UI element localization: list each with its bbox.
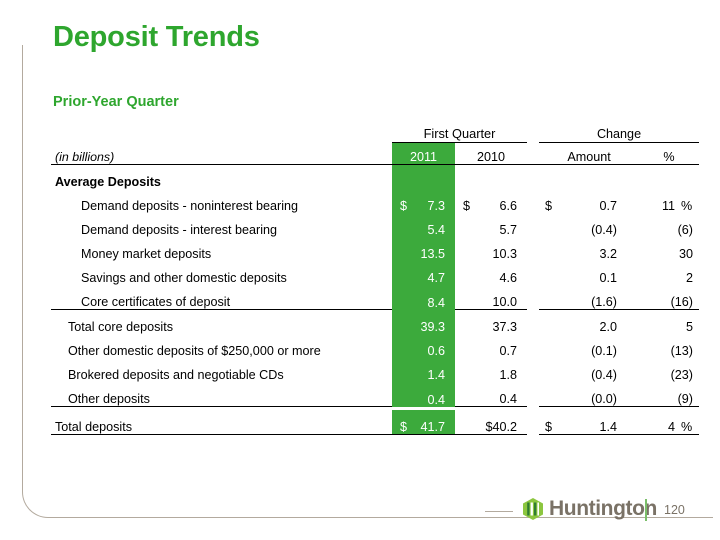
empty-cell [639, 165, 699, 190]
row-label: Core certificates of deposit [51, 285, 392, 310]
percent-symbol: % [675, 420, 693, 434]
value: 0.7 [600, 199, 618, 213]
row-change-amount: 0.1 [539, 261, 639, 285]
group-header-spacer [51, 122, 392, 143]
total-row-label: Total deposits [51, 410, 392, 435]
row-change-percent: 2 [639, 261, 699, 285]
row-value-2010: 5.7 [455, 213, 527, 237]
table-total-row: Total deposits $41.7 $40.2 $1.4 %4 [51, 410, 699, 435]
gap-cell [527, 285, 539, 310]
table-row: Total core deposits 39.3 37.3 2.0 5 [51, 310, 699, 335]
row-value-2011: 0.6 [392, 334, 455, 358]
row-change-amount: (0.1) [539, 334, 639, 358]
huntington-hexagon-icon [521, 497, 545, 521]
table-row: Demand deposits - noninterest bearing $7… [51, 189, 699, 213]
table-row: Other deposits 0.4 0.4 (0.0) (9) [51, 382, 699, 407]
value: 0.7 [500, 344, 518, 358]
table-row: Money market deposits 13.5 10.3 3.2 30 [51, 237, 699, 261]
value: 1.4 [600, 420, 618, 434]
row-change-percent: (13) [639, 334, 699, 358]
row-value-2010: 0.4 [455, 382, 527, 407]
units-label: (in billions) [51, 143, 392, 165]
value: 13.5 [420, 247, 445, 261]
table-group-header-row: First Quarter Change [51, 122, 699, 143]
row-value-2010: 37.3 [455, 310, 527, 335]
gap-cell [527, 189, 539, 213]
row-label: Savings and other domestic deposits [51, 261, 392, 285]
value: 0.4 [500, 392, 518, 406]
table-row: Savings and other domestic deposits 4.7 … [51, 261, 699, 285]
value: (0.0) [591, 392, 617, 406]
percent-symbol: % [675, 199, 693, 213]
brand-name: Huntington [549, 497, 657, 521]
page-title: Deposit Trends [53, 21, 260, 54]
table-sub-header-row: (in billions) 2011 2010 Amount % [51, 143, 699, 165]
column-header-2010: 2010 [455, 143, 527, 165]
value: 0.4 [427, 393, 445, 407]
currency-symbol: $ [539, 420, 552, 434]
row-value-2011: 0.4 [392, 382, 455, 407]
table-row: Brokered deposits and negotiable CDs 1.4… [51, 358, 699, 382]
row-label: Brokered deposits and negotiable CDs [51, 358, 392, 382]
row-label: Demand deposits - interest bearing [51, 213, 392, 237]
row-label: Money market deposits [51, 237, 392, 261]
currency-symbol: $ [539, 199, 552, 213]
row-value-2010: 10.0 [455, 285, 527, 310]
footer-divider [645, 499, 647, 521]
table-row: Demand deposits - interest bearing 5.4 5… [51, 213, 699, 237]
total-change-amount: $1.4 [539, 410, 639, 435]
value: 4.6 [500, 271, 518, 285]
value: 10.3 [493, 247, 518, 261]
row-change-percent: (16) [639, 285, 699, 310]
deposit-trends-table: First Quarter Change (in billions) 2011 … [51, 122, 699, 435]
row-label: Total core deposits [51, 310, 392, 335]
value: (0.4) [591, 368, 617, 382]
empty-cell [455, 165, 527, 190]
section-title-average-deposits: Average Deposits [51, 165, 392, 190]
row-change-amount: (0.0) [539, 382, 639, 407]
row-value-2010: 4.6 [455, 261, 527, 285]
total-value-2010: $40.2 [455, 410, 527, 435]
row-value-2010: $6.6 [455, 189, 527, 213]
gap-cell [527, 410, 539, 435]
table-section-row: Average Deposits [51, 165, 699, 190]
value: 39.3 [420, 320, 445, 334]
gap-cell [527, 358, 539, 382]
value: 37.3 [493, 320, 518, 334]
value: 5.7 [500, 223, 518, 237]
value: (6) [678, 223, 693, 237]
gap-cell [527, 310, 539, 335]
footer-rule [485, 511, 513, 512]
value: 5 [686, 320, 693, 334]
value: 8.4 [427, 296, 445, 310]
column-header-amount: Amount [539, 143, 639, 165]
page-number: 120 [664, 503, 685, 517]
row-change-amount: 3.2 [539, 237, 639, 261]
row-change-amount: 2.0 [539, 310, 639, 335]
value: 7.3 [427, 199, 445, 213]
currency-symbol: $ [455, 199, 470, 213]
table-body: Average Deposits Demand deposits - nonin… [51, 165, 699, 435]
value: (23) [671, 368, 693, 382]
currency-symbol: $ [392, 199, 407, 213]
gap-cell [527, 261, 539, 285]
currency-symbol: $ [392, 420, 407, 434]
total-change-percent: %4 [639, 410, 699, 435]
value: 0.1 [600, 271, 618, 285]
row-change-amount: (1.6) [539, 285, 639, 310]
value: 2 [686, 271, 693, 285]
row-change-percent: 5 [639, 310, 699, 335]
row-value-2010: 1.8 [455, 358, 527, 382]
value: 1.8 [500, 368, 518, 382]
value: 10.0 [493, 295, 518, 309]
column-group-change: Change [539, 122, 699, 143]
value: 0.6 [427, 344, 445, 358]
group-header-gap [527, 122, 539, 143]
row-change-amount: $0.7 [539, 189, 639, 213]
row-label: Other domestic deposits of $250,000 or m… [51, 334, 392, 358]
value: 40.2 [493, 420, 518, 434]
brand-logo: Huntington [521, 497, 657, 521]
gap-cell [527, 382, 539, 407]
row-value-2011: 5.4 [392, 213, 455, 237]
row-change-percent: %11 [639, 189, 699, 213]
value: (0.1) [591, 344, 617, 358]
total-value-2011: $41.7 [392, 410, 455, 435]
row-value-2011: $7.3 [392, 189, 455, 213]
row-value-2011: 13.5 [392, 237, 455, 261]
value: (13) [671, 344, 693, 358]
row-change-percent: (9) [639, 382, 699, 407]
row-change-percent: (23) [639, 358, 699, 382]
row-value-2011: 1.4 [392, 358, 455, 382]
row-value-2011: 4.7 [392, 261, 455, 285]
column-header-2011: 2011 [392, 143, 455, 165]
value: 11 [662, 199, 675, 213]
table-row: Other domestic deposits of $250,000 or m… [51, 334, 699, 358]
value: (1.6) [591, 295, 617, 309]
gap-cell [527, 237, 539, 261]
row-change-percent: (6) [639, 213, 699, 237]
row-label: Demand deposits - noninterest bearing [51, 189, 392, 213]
value: (9) [678, 392, 693, 406]
row-value-2011: 39.3 [392, 310, 455, 335]
value: 41.7 [420, 420, 445, 434]
page-subtitle: Prior-Year Quarter [53, 94, 179, 110]
currency-symbol: $ [485, 420, 492, 434]
value: 4 [668, 420, 675, 434]
gap-cell [527, 334, 539, 358]
row-value-2010: 0.7 [455, 334, 527, 358]
empty-cell [527, 165, 539, 190]
row-change-amount: (0.4) [539, 213, 639, 237]
gap-cell [527, 213, 539, 237]
value: 3.2 [600, 247, 618, 261]
row-value-2011: 8.4 [392, 285, 455, 310]
table-row: Core certificates of deposit 8.4 10.0 (1… [51, 285, 699, 310]
value: 4.7 [427, 271, 445, 285]
value: 2.0 [600, 320, 618, 334]
row-value-2010: 10.3 [455, 237, 527, 261]
sub-header-gap [527, 143, 539, 165]
green-column-fill [392, 165, 455, 190]
value: 5.4 [427, 223, 445, 237]
value: 1.4 [427, 368, 445, 382]
empty-cell [539, 165, 639, 190]
value: 6.6 [500, 199, 518, 213]
row-change-amount: (0.4) [539, 358, 639, 382]
column-header-percent: % [639, 143, 699, 165]
row-label: Other deposits [51, 382, 392, 407]
value: (16) [671, 295, 693, 309]
column-group-first-quarter: First Quarter [392, 122, 527, 143]
value: (0.4) [591, 223, 617, 237]
deposit-trends-table-container: First Quarter Change (in billions) 2011 … [51, 122, 699, 435]
value: 30 [679, 247, 693, 261]
row-change-percent: 30 [639, 237, 699, 261]
